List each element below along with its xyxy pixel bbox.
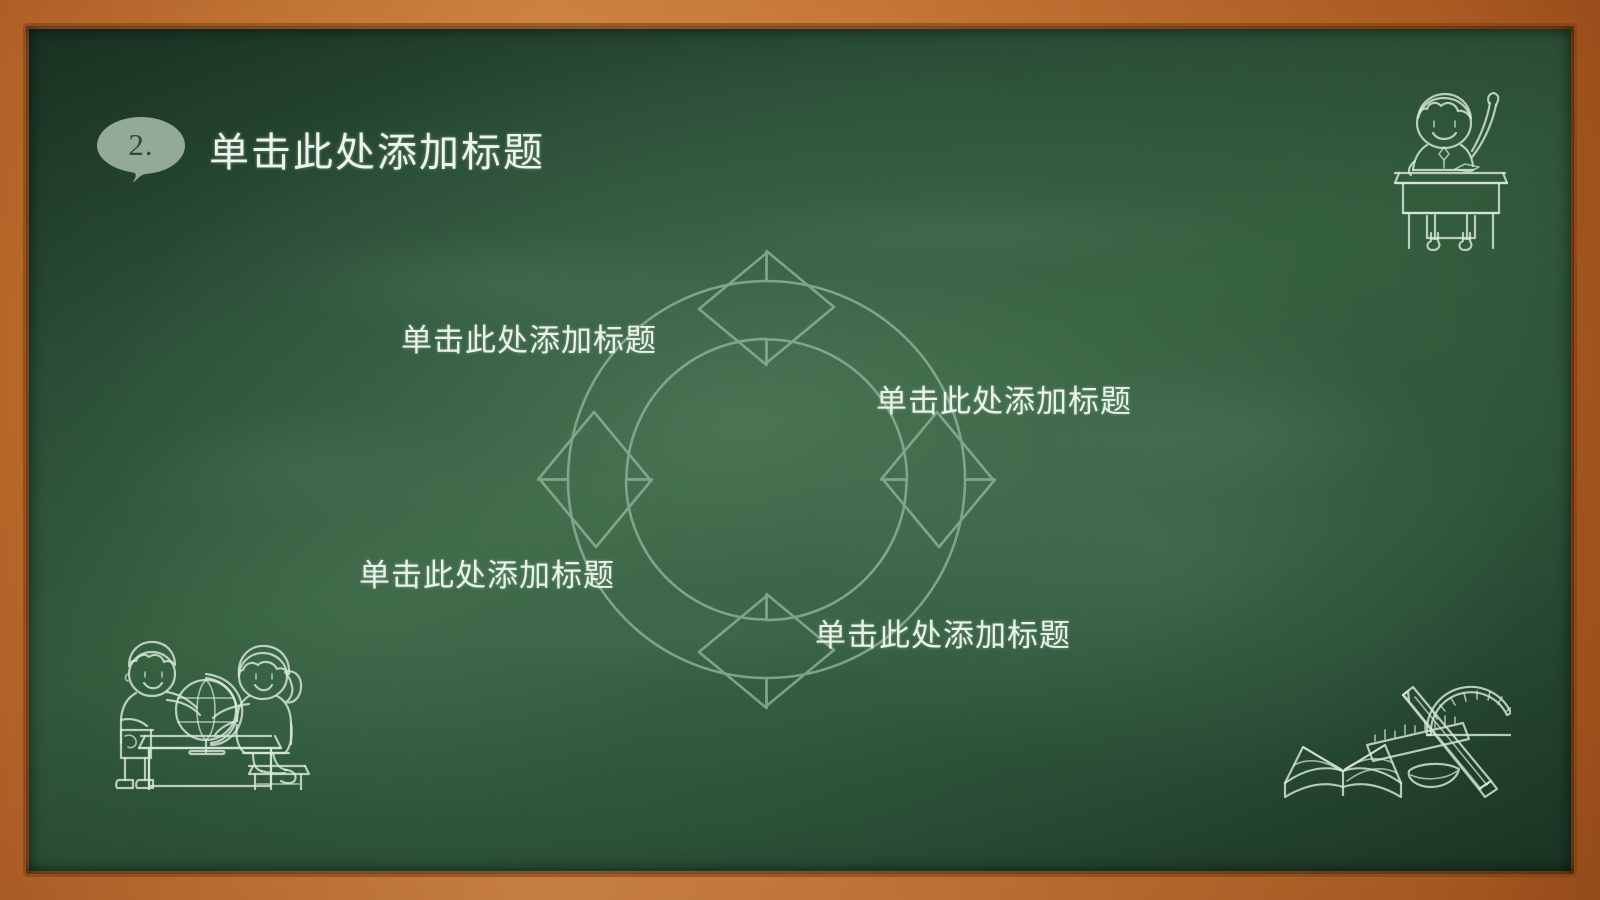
cycle-label-top-right[interactable]: 单击此处添加标题 bbox=[876, 376, 1132, 421]
cycle-arrow-1 bbox=[540, 251, 834, 547]
chalkboard-slide: 2. 单击此处添加标题 bbox=[0, 0, 1600, 900]
section-number-text: 2. bbox=[95, 115, 187, 175]
chalkboard-surface: 2. 单击此处添加标题 bbox=[29, 29, 1571, 871]
section-number-badge[interactable]: 2. bbox=[95, 115, 187, 183]
page-title: 单击此处添加标题 bbox=[209, 120, 545, 178]
cycle-arrow-3 bbox=[699, 412, 993, 708]
two-children-with-globe-icon bbox=[111, 630, 326, 795]
student-raising-hand-at-desk-icon bbox=[1389, 81, 1509, 256]
cycle-label-bottom-left[interactable]: 单击此处添加标题 bbox=[359, 550, 615, 595]
cycle-label-top-left[interactable]: 单击此处添加标题 bbox=[401, 315, 657, 360]
cycle-label-bottom-right[interactable]: 单击此处添加标题 bbox=[815, 610, 1071, 655]
slide-header: 2. 单击此处添加标题 bbox=[95, 104, 545, 194]
book-pencil-ruler-protractor-eraser-icon bbox=[1281, 679, 1511, 809]
